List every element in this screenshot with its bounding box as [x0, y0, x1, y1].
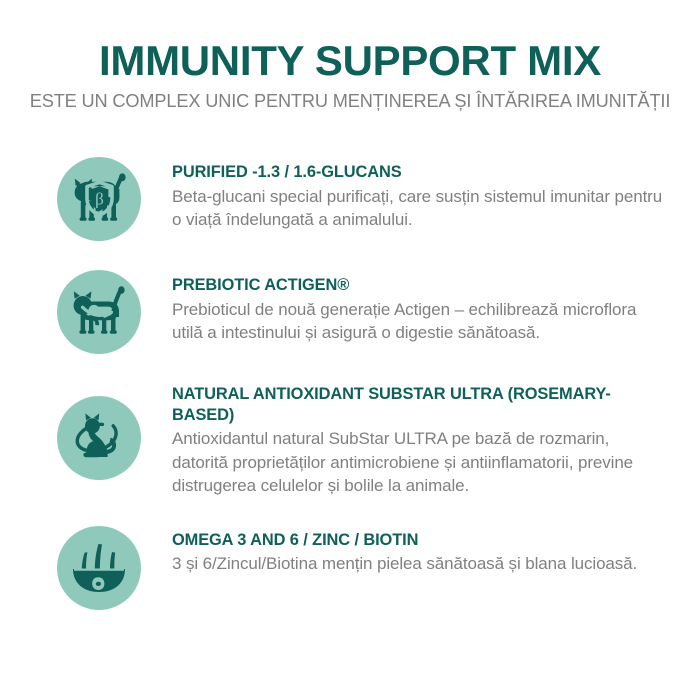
- feature-body: 3 și 6/Zincul/Biotina mențin pielea sănă…: [172, 552, 665, 576]
- feature-body: Antioxidantul natural SubStar ULTRA pe b…: [172, 427, 665, 498]
- infographic-page: IMMUNITY SUPPORT MIX ESTE UN COMPLEX UNI…: [0, 0, 700, 700]
- feature-body: Prebioticul de nouă generație Actigen – …: [172, 298, 665, 345]
- cat-antioxidant-orbit-icon: [57, 396, 141, 480]
- hair-follicle-icon: [57, 526, 141, 610]
- cat-digestion-arrow-icon: [57, 270, 141, 354]
- feature-item-omega-zinc-biotin: OMEGA 3 AND 6 / ZINC / BIOTIN 3 și 6/Zin…: [0, 518, 700, 610]
- feature-list: β PURIFIED -1.3 / 1.6-GLUCANS Beta-gluca…: [0, 150, 700, 610]
- header: IMMUNITY SUPPORT MIX ESTE UN COMPLEX UNI…: [0, 38, 700, 114]
- cat-shield-beta-icon: β: [57, 157, 141, 241]
- feature-title: PURIFIED -1.3 / 1.6-GLUCANS: [172, 162, 665, 183]
- feature-item-purified-glucans: β PURIFIED -1.3 / 1.6-GLUCANS Beta-gluca…: [0, 150, 700, 241]
- feature-item-prebiotic-actigen: PREBIOTIC ACTIGEN® Prebioticul de nouă g…: [0, 263, 700, 354]
- page-subtitle: ESTE UN COMPLEX UNIC PENTRU MENȚINEREA Ș…: [0, 88, 700, 114]
- feature-body: Beta-glucani special purificați, care su…: [172, 185, 665, 232]
- feature-title: PREBIOTIC ACTIGEN®: [172, 275, 665, 296]
- feature-title: NATURAL ANTIOXIDANT SUBSTAR ULTRA (ROSEM…: [172, 384, 665, 425]
- page-title: IMMUNITY SUPPORT MIX: [0, 38, 700, 84]
- feature-text-block: PURIFIED -1.3 / 1.6-GLUCANS Beta-glucani…: [141, 150, 700, 232]
- feature-text-block: NATURAL ANTIOXIDANT SUBSTAR ULTRA (ROSEM…: [141, 372, 700, 498]
- feature-text-block: PREBIOTIC ACTIGEN® Prebioticul de nouă g…: [141, 263, 700, 345]
- feature-title: OMEGA 3 AND 6 / ZINC / BIOTIN: [172, 530, 665, 551]
- svg-text:β: β: [95, 190, 104, 209]
- feature-item-natural-antioxidant: NATURAL ANTIOXIDANT SUBSTAR ULTRA (ROSEM…: [0, 372, 700, 498]
- feature-text-block: OMEGA 3 AND 6 / ZINC / BIOTIN 3 și 6/Zin…: [141, 518, 700, 576]
